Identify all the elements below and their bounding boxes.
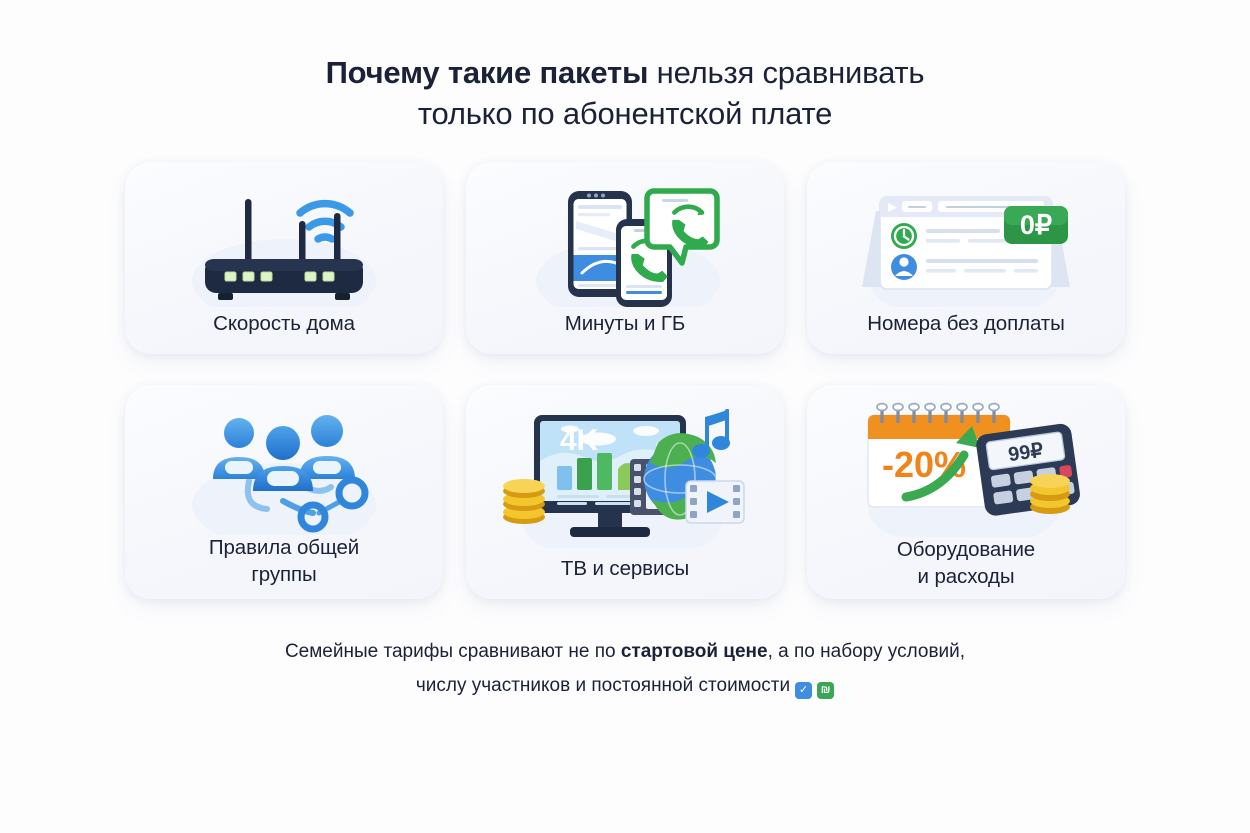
title-line-2: только по абонентской плате — [326, 93, 925, 134]
calendar-calculator-icon: -20% 99₽ — [807, 395, 1125, 537]
title-line-1: Почему такие пакеты нельзя сравнивать — [326, 52, 925, 93]
feature-card-grid: Скорость дома — [125, 162, 1125, 599]
footer-text-part-2: , а по набору условий, — [768, 641, 965, 662]
card-label-shared-group-rules: Правила общейгруппы — [197, 535, 371, 599]
card-label-speed-at-home: Скорость дома — [201, 311, 367, 354]
footer-bold-phrase: стартовой цене — [621, 641, 768, 662]
footer-line-1: Семейные тарифы сравнивают не по стартов… — [285, 635, 965, 668]
infographic-page: Почему такие пакеты нельзя сравнивать то… — [0, 0, 1250, 833]
page-title: Почему такие пакеты нельзя сравнивать то… — [326, 52, 925, 134]
card-numbers-without-surcharge[interactable]: 0₽ Номера без доплаты — [807, 162, 1125, 354]
tv-services-icon: 4K — [466, 395, 784, 556]
title-normal-part: нельзя сравнивать — [648, 55, 924, 90]
title-strong-part: Почему такие пакеты — [326, 55, 649, 90]
price-badge-text: 0₽ — [1020, 210, 1052, 240]
account-list-window-icon: 0₽ — [807, 172, 1125, 311]
card-shared-group-rules[interactable]: Правила общейгруппы — [125, 385, 443, 599]
card-label-numbers-without-surcharge: Номера без доплаты — [855, 311, 1076, 354]
label-line-2: и расходы — [918, 565, 1015, 588]
label-line-1: Оборудование — [897, 538, 1035, 561]
footer-text-line-2: числу участников и постоянной стоимости — [416, 675, 790, 696]
people-group-network-icon — [125, 395, 443, 535]
card-label-tv-and-services: ТВ и сервисы — [549, 556, 701, 599]
card-label-equipment-and-costs: Оборудованиеи расходы — [885, 537, 1047, 599]
label-line-1: Правила общей — [209, 536, 359, 559]
footer-note: Семейные тарифы сравнивают не по стартов… — [285, 635, 965, 702]
check-badge-icon: ✓ — [795, 682, 812, 699]
wifi-router-icon — [125, 172, 443, 311]
card-speed-at-home[interactable]: Скорость дома — [125, 162, 443, 354]
two-phones-call-icon — [466, 172, 784, 311]
card-label-minutes-and-gb: Минуты и ГБ — [553, 311, 698, 354]
tv-screen-label: 4K — [560, 424, 599, 457]
card-equipment-and-costs[interactable]: -20% 99₽ — [807, 385, 1125, 599]
card-minutes-and-gb[interactable]: Минуты и ГБ — [466, 162, 784, 354]
label-line-2: группы — [251, 563, 316, 586]
footer-line-2: числу участников и постоянной стоимости✓… — [285, 669, 965, 702]
card-tv-and-services[interactable]: 4K — [466, 385, 784, 599]
footer-text-part-1: Семейные тарифы сравнивают не по — [285, 641, 621, 662]
money-badge-icon: ₪ — [817, 682, 834, 699]
